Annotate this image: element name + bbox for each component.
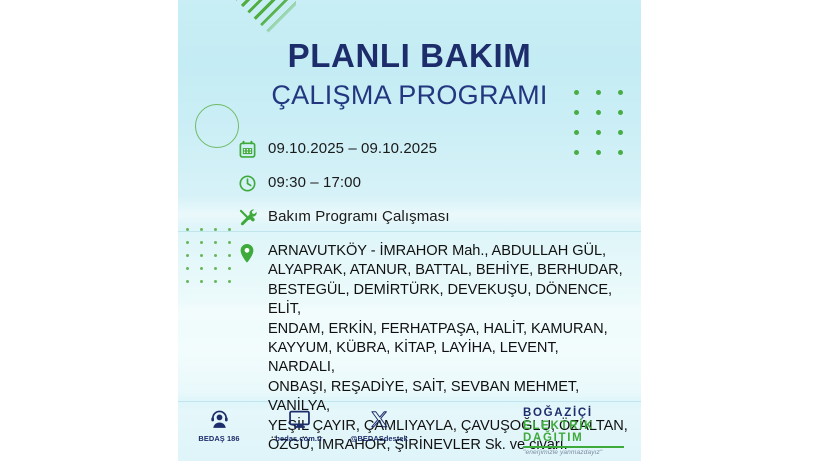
date-range-text: 09.10.2025 – 09.10.2025: [268, 138, 437, 160]
screenshot-canvas: PLANLI BAKIM ÇALIŞMA PROGRAMI: [0, 0, 820, 461]
brand-line-elektrik: ELEKTRİK: [523, 420, 633, 433]
detail-row-date: 09.10.2025 – 09.10.2025: [238, 138, 628, 160]
brand-line-dagitim: DAĞITIM: [523, 432, 633, 445]
time-range-text: 09:30 – 17:00: [268, 172, 361, 194]
brand-line-bogazici: BOĞAZİÇİ: [523, 407, 633, 420]
contact-x-label: @BEDASdestek: [348, 434, 410, 443]
contact-channels: BEDAŞ 186 bedas.com.tr: [188, 406, 410, 443]
tools-icon: [238, 206, 268, 228]
bedas-logo: BOĞAZİÇİ ELEKTRİK DAĞITIM "enerjimizle y…: [523, 407, 633, 456]
poster-footer: BEDAŞ 186 bedas.com.tr: [178, 403, 641, 455]
brand-tagline: "enerjimizle yanmazdayız": [523, 449, 633, 456]
brand-underline: [523, 446, 624, 448]
desktop-monitor-icon: [268, 406, 330, 432]
contact-call-center[interactable]: BEDAŞ 186: [188, 406, 250, 443]
detail-row-time: 09:30 – 17:00: [238, 172, 628, 194]
clock-icon: [238, 172, 268, 194]
page-subtitle: ÇALIŞMA PROGRAMI: [178, 78, 641, 112]
x-twitter-icon: [348, 406, 410, 432]
poster-heading-group: PLANLI BAKIM ÇALIŞMA PROGRAMI: [178, 36, 641, 112]
calendar-icon: [238, 138, 268, 160]
work-type-text: Bakım Programı Çalışması: [268, 206, 450, 228]
planned-maintenance-poster: PLANLI BAKIM ÇALIŞMA PROGRAMI: [178, 0, 641, 461]
contact-x-account[interactable]: @BEDASdestek: [348, 406, 410, 443]
contact-call-center-label: BEDAŞ 186: [188, 434, 250, 443]
dot-grid-left-decoration: [186, 228, 242, 293]
contact-website-label: bedas.com.tr: [268, 434, 330, 443]
support-agent-icon: [188, 406, 250, 432]
map-pin-icon: [238, 242, 268, 263]
contact-website[interactable]: bedas.com.tr: [268, 406, 330, 443]
detail-row-work-type: Bakım Programı Çalışması: [238, 206, 628, 228]
page-title: PLANLI BAKIM: [178, 36, 641, 76]
